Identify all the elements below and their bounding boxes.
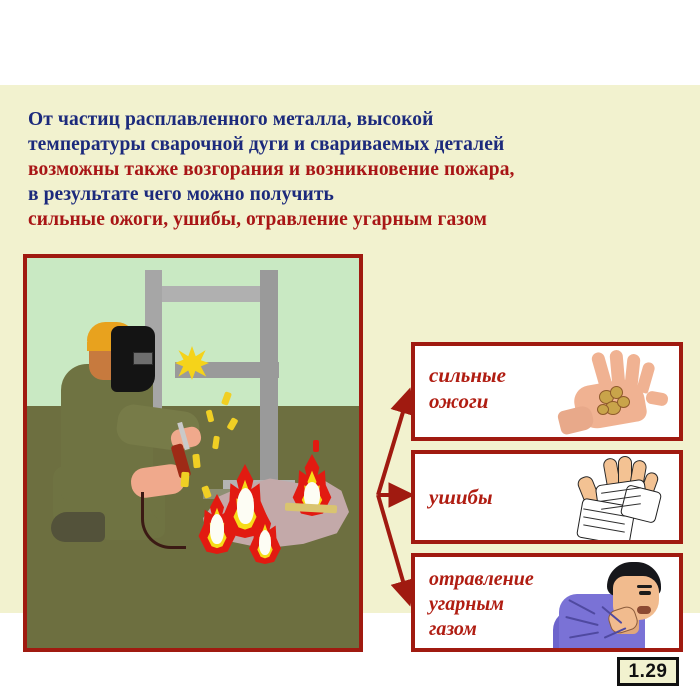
slide-page: От частиц расплавленного металла, высоко… xyxy=(0,0,700,700)
arrow-to-burns xyxy=(378,392,409,495)
heading-line-3: возможны также возгорания и возникновени… xyxy=(28,157,678,182)
flame-ember xyxy=(313,440,319,452)
thumb xyxy=(645,390,669,407)
welding-cable xyxy=(141,492,186,549)
wrist xyxy=(557,404,596,436)
flame-center-core xyxy=(259,530,271,555)
heading-line-4: в результате чего можно получить xyxy=(28,182,678,207)
slide-canvas: От частиц расплавленного металла, высоко… xyxy=(0,85,700,613)
spark-particle xyxy=(180,472,189,488)
consequence-label-burns: сильные ожоги xyxy=(429,362,506,414)
welding-mask-lens xyxy=(133,352,153,365)
welding-illustration-panel xyxy=(23,254,363,652)
consequence-box-poisoning[interactable]: отравление угарным газом xyxy=(411,553,683,652)
bandaged-hands-icon xyxy=(561,456,671,544)
heading-line-5: сильные ожоги, ушибы, отравление угарным… xyxy=(28,207,678,232)
spark-particle xyxy=(192,454,200,469)
heading-line-1: От частиц расплавленного металла, высоко… xyxy=(28,107,678,132)
slide-number-text: 1.29 xyxy=(629,661,668,683)
consequence-box-bruises[interactable]: ушибы xyxy=(411,450,683,544)
consequence-label-poisoning: отравление угарным газом xyxy=(429,567,534,642)
connector-arrows xyxy=(360,340,412,660)
burn-blister xyxy=(597,404,609,415)
slide-number-badge: 1.29 xyxy=(617,657,679,686)
consequence-label-bruises: ушибы xyxy=(429,484,493,510)
eyebrow xyxy=(637,585,652,588)
eye xyxy=(639,591,651,595)
arrow-to-poison xyxy=(378,495,409,602)
coughing-man-icon xyxy=(551,560,673,652)
page-title: От частиц расплавленного металла, высоко… xyxy=(28,107,678,232)
flame-left-core xyxy=(210,514,224,544)
flame-large-core xyxy=(237,488,254,524)
open-mouth xyxy=(637,606,651,614)
consequence-box-burns[interactable]: сильные ожоги xyxy=(411,342,683,441)
welder-boot xyxy=(51,512,105,542)
steel-beam-top xyxy=(145,286,278,302)
burned-hand-icon xyxy=(553,350,673,438)
heading-line-2: температуры сварочной дуги и свариваемых… xyxy=(28,132,678,157)
burn-blister xyxy=(617,396,630,408)
